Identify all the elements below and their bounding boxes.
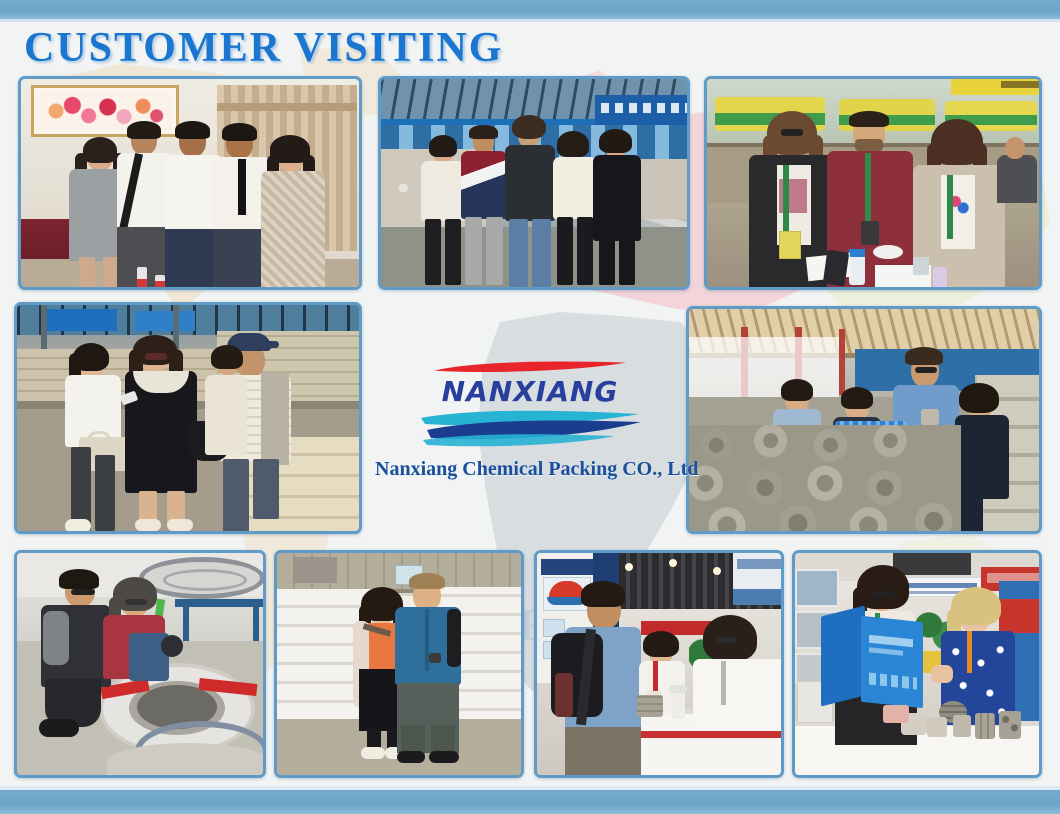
photo-equipment-check	[14, 550, 266, 778]
photo-brick-tour	[14, 302, 362, 534]
photo-warehouse-group	[378, 76, 690, 290]
photo-office-group-scene	[21, 79, 359, 287]
photo-ring-inspection	[686, 306, 1042, 534]
logo-brand-text: NANXIANG	[375, 377, 685, 406]
logo-wave-marks	[415, 408, 645, 448]
top-band	[0, 0, 1060, 19]
photo-ring-inspection-scene	[689, 309, 1039, 531]
page-title: CUSTOMER VISITING	[24, 24, 503, 72]
photo-office-group	[18, 76, 362, 290]
photo-expo-booth-scene	[537, 553, 781, 775]
photo-meeting-table-scene	[707, 79, 1039, 287]
photo-expo-booth	[534, 550, 784, 778]
company-logo: NANXIANG Nanxiang Chemical Packing CO., …	[375, 360, 685, 481]
photo-equipment-check-scene	[17, 553, 263, 775]
photo-bag-stack	[274, 550, 524, 778]
photo-catalog-show	[792, 550, 1042, 778]
customer-visiting-banner: E F CUSTOMER VISITING	[0, 0, 1060, 814]
bottom-band-hairline	[0, 786, 1060, 790]
bottom-band	[0, 790, 1060, 814]
photo-catalog-show-scene	[795, 553, 1039, 775]
photo-bag-stack-scene	[277, 553, 521, 775]
photo-brick-tour-scene	[17, 305, 359, 531]
company-name: Nanxiang Chemical Packing CO., Ltd	[375, 458, 685, 481]
photo-warehouse-group-scene	[381, 79, 687, 287]
top-band-hairline	[0, 19, 1060, 22]
logo-red-swoosh	[430, 360, 630, 376]
photo-meeting-table	[704, 76, 1042, 290]
